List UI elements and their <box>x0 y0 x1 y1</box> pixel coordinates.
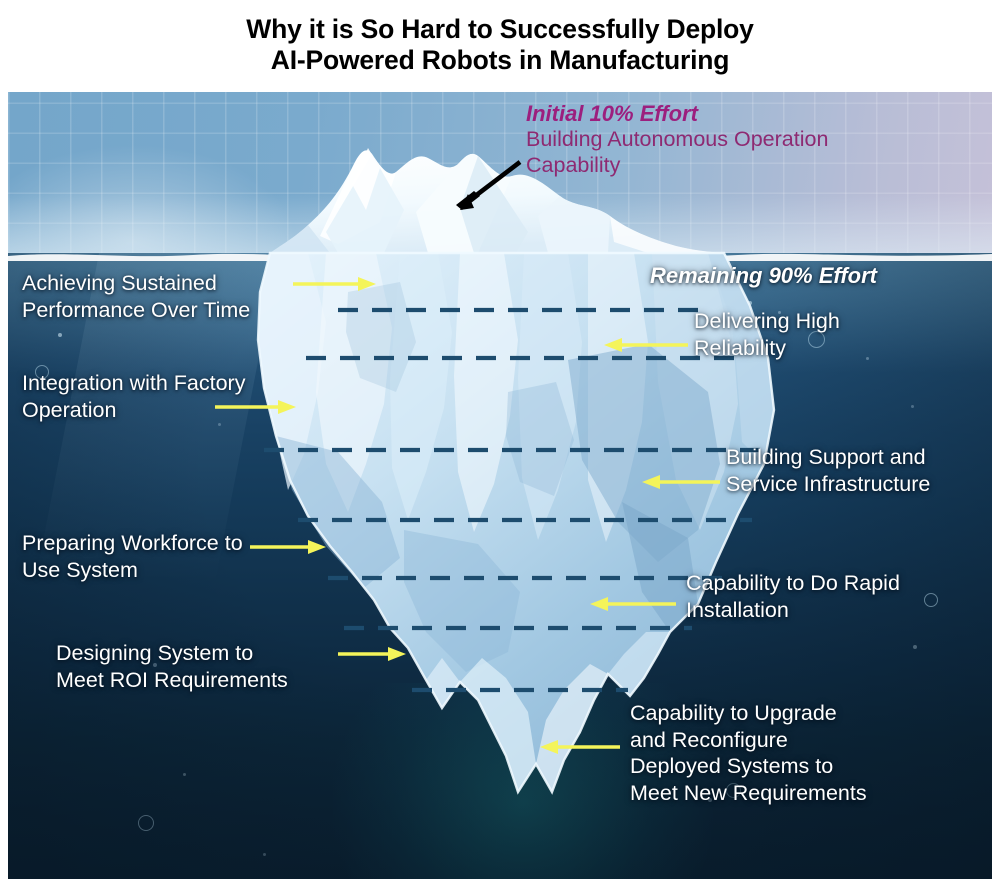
tip-arrow-icon <box>456 162 520 210</box>
arrow-left-icon-4 <box>540 740 620 754</box>
arrow-left-icon-2 <box>642 475 720 489</box>
label-designing-system-roi: Designing System to Meet ROI Requirement… <box>56 640 376 693</box>
label-line: Meet New Requirements <box>630 780 980 807</box>
above-water-body-line-2: Capability <box>526 153 946 179</box>
label-line: Reliability <box>694 335 974 362</box>
label-line: Capability to Do Rapid <box>686 570 972 597</box>
label-line: Operation <box>22 397 312 424</box>
iceberg-scene: Initial 10% Effort Building Autonomous O… <box>8 92 992 879</box>
label-line: Deployed Systems to <box>630 753 980 780</box>
label-line: Installation <box>686 597 972 624</box>
label-line: Building Support and <box>726 444 992 471</box>
label-line: Delivering High <box>694 308 974 335</box>
label-line: and Reconfigure <box>630 727 980 754</box>
iceberg-diagram-page: Why it is So Hard to Successfully Deploy… <box>0 0 1000 887</box>
label-building-support-service-infrastructure: Building Support and Service Infrastruct… <box>726 444 992 497</box>
arrow-left-icon-1 <box>604 338 688 352</box>
page-title-line-1: Why it is So Hard to Successfully Deploy <box>0 14 1000 45</box>
above-water-label: Initial 10% Effort Building Autonomous O… <box>526 100 946 178</box>
label-delivering-high-reliability: Delivering High Reliability <box>694 308 974 361</box>
arrow-left-icon-3 <box>590 597 676 611</box>
label-achieving-sustained-performance: Achieving Sustained Performance Over Tim… <box>22 270 312 323</box>
label-line: Capability to Upgrade <box>630 700 980 727</box>
label-capability-rapid-installation: Capability to Do Rapid Installation <box>686 570 972 623</box>
label-preparing-workforce: Preparing Workforce to Use System <box>22 530 312 583</box>
label-line: Preparing Workforce to <box>22 530 312 557</box>
label-line: Service Infrastructure <box>726 471 992 498</box>
label-line: Use System <box>22 557 312 584</box>
above-water-heading: Initial 10% Effort <box>526 100 946 127</box>
label-capability-upgrade-reconfigure: Capability to Upgrade and Reconfigure De… <box>630 700 980 806</box>
above-water-body-line-1: Building Autonomous Operation <box>526 127 946 153</box>
page-title-line-2: AI-Powered Robots in Manufacturing <box>0 45 1000 76</box>
page-title: Why it is So Hard to Successfully Deploy… <box>0 14 1000 76</box>
label-integration-with-factory-operation: Integration with Factory Operation <box>22 370 312 423</box>
label-line: Designing System to <box>56 640 376 667</box>
label-line: Performance Over Time <box>22 297 312 324</box>
label-line: Integration with Factory <box>22 370 312 397</box>
label-line: Achieving Sustained <box>22 270 312 297</box>
label-line: Meet ROI Requirements <box>56 667 376 694</box>
below-water-heading: Remaining 90% Effort <box>650 262 970 289</box>
